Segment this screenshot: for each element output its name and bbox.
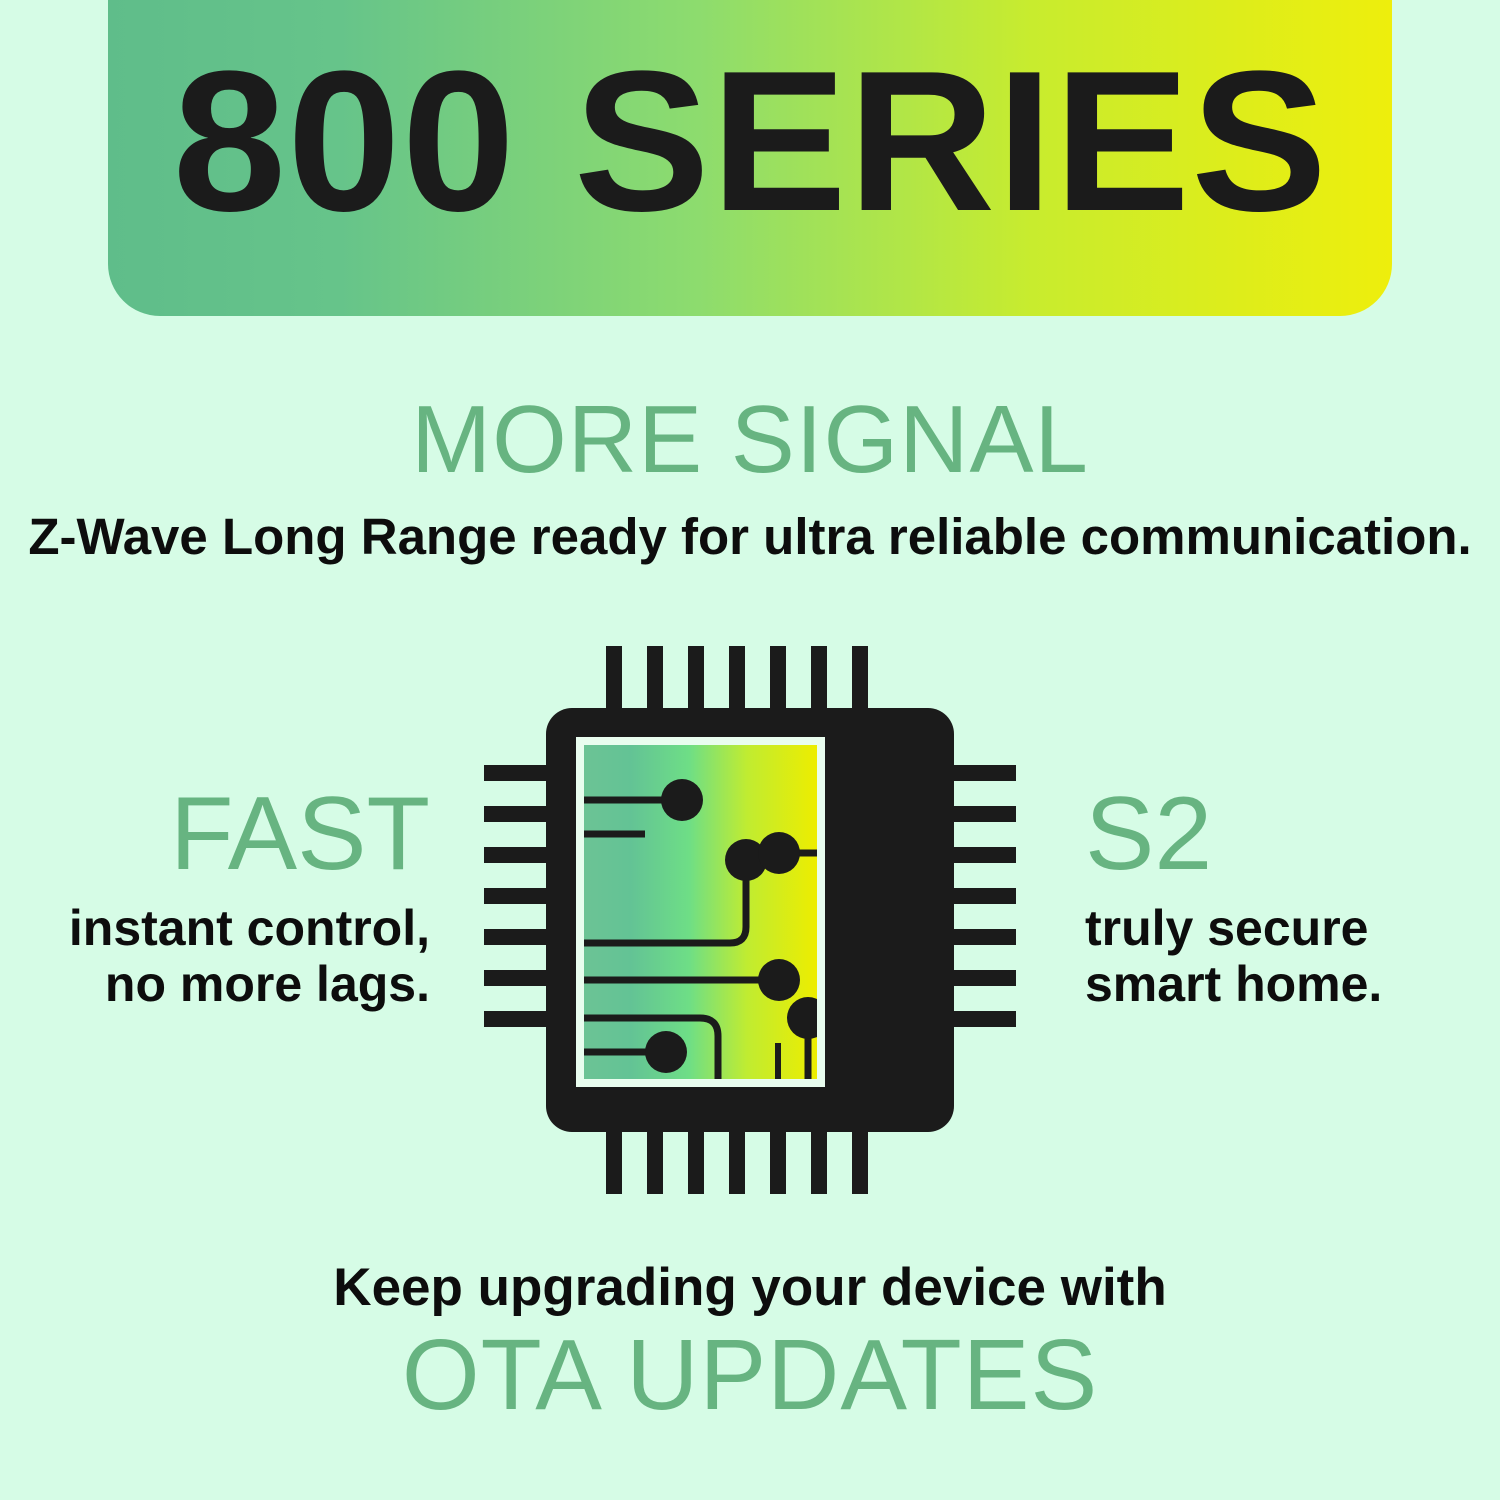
chip-pins-left [484,765,554,1027]
chip-pins-right [946,765,1016,1027]
feature-fast-body-line-2: no more lags. [60,956,430,1012]
chip-pins-top [606,646,868,716]
ota-line-1: Keep upgrading your device with [0,1258,1500,1317]
feature-fast-heading: FAST [60,782,430,886]
feature-fast: FAST instant control, no more lags. [60,782,430,1012]
ota-section: Keep upgrading your device with OTA UPDA… [0,1258,1500,1425]
chip-pins-bottom [606,1124,868,1194]
feature-fast-body-line-1: instant control, [60,900,430,956]
page-title: 800 SERIES [172,42,1328,316]
header-banner: 800 SERIES [108,0,1392,316]
feature-s2: S2 truly secure smart home. [1085,782,1465,1012]
feature-s2-heading: S2 [1085,782,1465,886]
poster-root: 800 SERIES MORE SIGNAL Z-Wave Long Range… [0,0,1500,1500]
more-signal-heading: MORE SIGNAL [411,386,1089,493]
more-signal-subtitle: Z-Wave Long Range ready for ultra reliab… [0,508,1500,565]
feature-s2-body-line-2: smart home. [1085,956,1465,1012]
ota-line-2: OTA UPDATES [0,1325,1500,1425]
feature-s2-body-line-1: truly secure [1085,900,1465,956]
more-signal-section: MORE SIGNAL [0,392,1500,488]
microchip-illustration [478,640,1022,1200]
feature-fast-body: instant control, no more lags. [60,900,430,1012]
feature-s2-body: truly secure smart home. [1085,900,1465,1012]
microchip-icon [478,640,1022,1200]
